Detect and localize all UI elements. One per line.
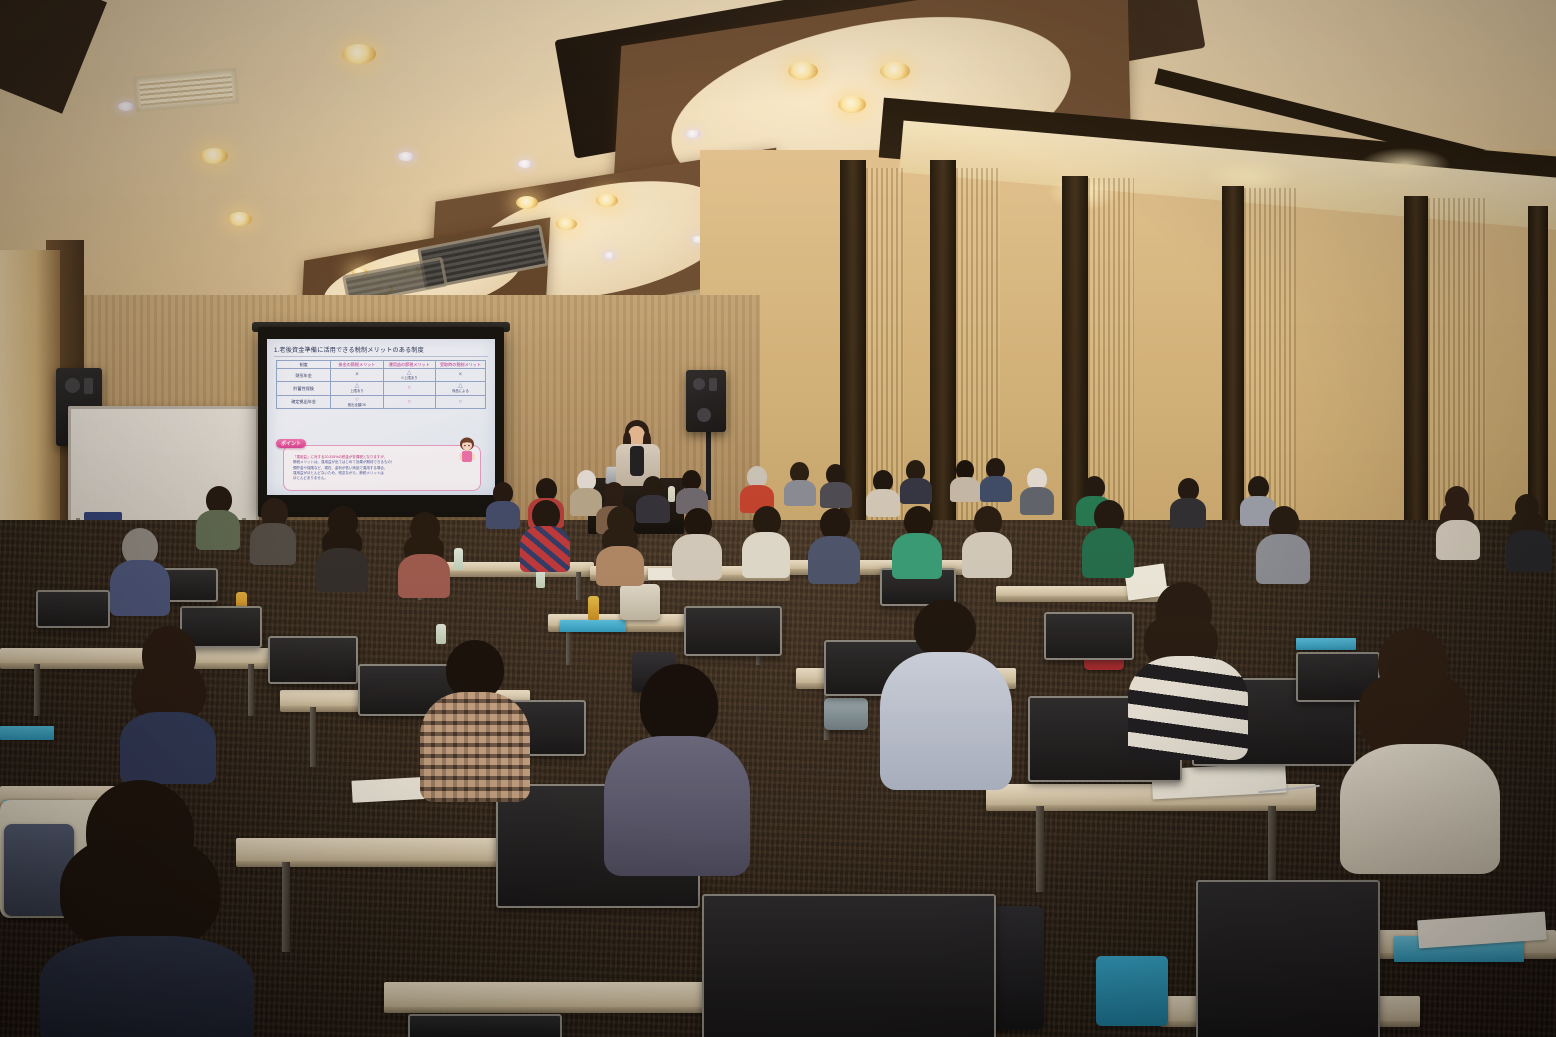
blue-bag	[1096, 956, 1168, 1026]
table	[384, 982, 714, 1008]
table-leg	[1036, 806, 1044, 892]
table	[0, 648, 276, 664]
chair	[36, 590, 110, 628]
presenter-inner-top	[630, 446, 644, 476]
table-leg	[34, 664, 40, 716]
table	[236, 838, 536, 862]
spotlight-icon	[686, 130, 700, 138]
folder	[1296, 638, 1356, 650]
table-leg	[248, 664, 254, 716]
row-cell: △ 商品による	[435, 382, 485, 395]
handbag	[620, 584, 660, 620]
row-cell: ○	[383, 395, 435, 408]
presenter	[608, 418, 670, 484]
mascot-character-icon	[456, 436, 478, 466]
spotlight-icon	[398, 152, 414, 161]
row-label: 確定拠出年金	[277, 395, 331, 408]
table-header-cell: 受取時の税制メリット	[435, 361, 485, 369]
row-cell: ×	[435, 369, 485, 382]
row-label: 貯蓄性保険	[277, 382, 331, 395]
downlight-icon	[200, 148, 228, 164]
wall-wash-light	[1360, 148, 1450, 182]
row-cell: ○ 拠出全額OK	[331, 395, 383, 408]
downlight-icon	[342, 44, 376, 64]
table-header-cell: 掛金の節税メリット	[331, 361, 383, 369]
table-row: 財形年金 × △ ※上限あり ×	[277, 369, 486, 382]
spotlight-icon	[604, 252, 615, 259]
row-cell: △ 上限あり	[331, 382, 383, 395]
chair	[1044, 612, 1134, 660]
slide-point-box: ポイント 「運用益」に対する20.315%の税金が非課税となりますが、 節税メリ…	[283, 445, 481, 491]
bottle	[454, 548, 463, 570]
chair	[408, 1014, 562, 1037]
table-header-cell: 運用益の節税メリット	[383, 361, 435, 369]
table-leg	[310, 707, 316, 767]
wall-wash-light	[1206, 158, 1296, 192]
table-header-cell: 制度	[277, 361, 331, 369]
folder	[0, 726, 54, 740]
spotlight-icon	[518, 160, 532, 168]
pa-speaker-right	[686, 370, 726, 432]
projection-screen: 1.老後資金準備に活用できる税制メリットのある制度 制度 掛金の節税メリット 運…	[258, 327, 504, 517]
row-cell: ×	[331, 369, 383, 382]
pouch	[824, 698, 868, 730]
table-leg	[576, 572, 581, 600]
chair	[684, 606, 782, 656]
speaker-stand-right	[706, 430, 711, 500]
folder	[560, 620, 626, 632]
bottle	[436, 624, 446, 644]
spotlight-icon	[118, 102, 134, 111]
table-leg	[566, 627, 571, 665]
water-bottle	[668, 486, 675, 502]
row-cell: ○	[435, 395, 485, 408]
slide-table: 制度 掛金の節税メリット 運用益の節税メリット 受取時の税制メリット 財形年金 …	[276, 360, 486, 409]
seminar-room-photo: 1.老後資金準備に活用できる税制メリットのある制度 制度 掛金の節税メリット 運…	[0, 0, 1556, 1037]
point-line: ほとんどありません。	[293, 476, 480, 481]
downlight-icon	[838, 96, 866, 113]
row-cell: △ ※上限あり	[383, 369, 435, 382]
slide-title-underline	[274, 356, 488, 357]
bottle	[588, 596, 599, 620]
downlight-icon	[228, 212, 252, 226]
downlight-icon	[596, 194, 618, 207]
row-label: 財形年金	[277, 369, 331, 382]
downlight-icon	[556, 218, 577, 230]
table-leg	[282, 862, 290, 952]
slide-content: 1.老後資金準備に活用できる税制メリットのある制度 制度 掛金の節税メリット 運…	[267, 339, 495, 495]
chair	[268, 636, 358, 684]
downlight-icon	[516, 196, 538, 209]
table-header-row: 制度 掛金の節税メリット 運用益の節税メリット 受取時の税制メリット	[277, 361, 486, 369]
table-row: 貯蓄性保険 △ 上限あり ○ △ 商品による	[277, 382, 486, 395]
point-badge: ポイント	[276, 439, 306, 448]
downlight-icon	[880, 62, 910, 80]
slide-title: 1.老後資金準備に活用できる税制メリットのある制度	[274, 345, 488, 354]
table-row: 確定拠出年金 ○ 拠出全額OK ○ ○	[277, 395, 486, 408]
chair	[1196, 880, 1380, 1037]
downlight-icon	[788, 62, 818, 80]
chair	[702, 894, 996, 1037]
row-cell: ○	[383, 382, 435, 395]
